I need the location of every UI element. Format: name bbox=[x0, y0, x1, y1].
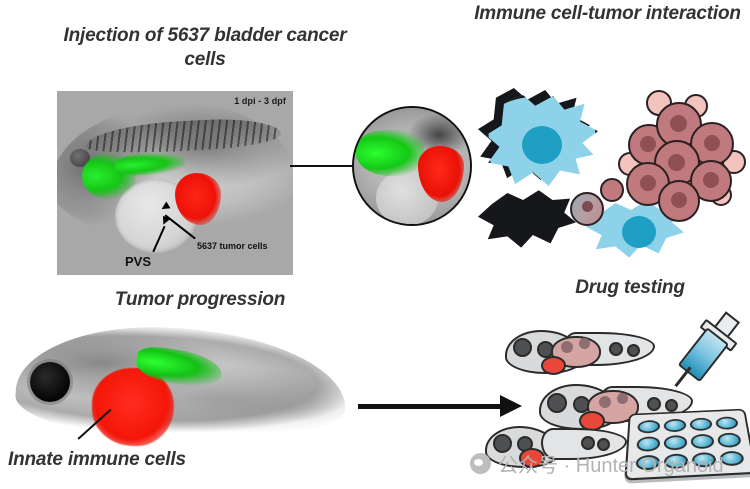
plate-well bbox=[636, 454, 660, 470]
tumor-cell-nucleus bbox=[640, 175, 656, 191]
larva-posterior-spot bbox=[597, 438, 610, 451]
plate-well-grid bbox=[636, 416, 745, 470]
larva-posterior-spot bbox=[609, 342, 623, 356]
timestamp-label: 1 dpi - 3 dpf bbox=[234, 96, 286, 106]
drug-testing-illustration bbox=[495, 318, 750, 484]
larva-tumor-spot bbox=[561, 341, 573, 353]
magnified-inset-image bbox=[352, 106, 472, 226]
panel-title-drug-testing: Drug testing bbox=[540, 276, 720, 300]
plate-well bbox=[719, 450, 745, 466]
tumor-cell-nucleus bbox=[668, 154, 685, 171]
panel-title-interaction: Immune cell-tumor interaction bbox=[470, 2, 745, 26]
tumor-cell-nucleus bbox=[670, 115, 687, 132]
tumor-cell-nucleus bbox=[640, 136, 656, 152]
tumor-cell-small bbox=[600, 178, 624, 202]
zebrafish-eye-large bbox=[30, 362, 70, 402]
plate-well bbox=[717, 433, 742, 448]
larva-eye bbox=[513, 338, 532, 357]
cartoon-larva bbox=[485, 422, 625, 472]
tumor-cell-nucleus bbox=[704, 135, 720, 151]
figure-canvas: Injection of 5637 bladder cancer cells I… bbox=[0, 0, 750, 489]
cartoon-larva bbox=[505, 326, 655, 378]
plate-well bbox=[692, 452, 717, 468]
macrophage-2-outline bbox=[478, 186, 576, 256]
microscopy-image-injection: 1 dpi - 3 dpf 5637 tumor cells PVS bbox=[57, 91, 293, 275]
larva-tumor-spot bbox=[579, 338, 590, 349]
larva-eye bbox=[493, 434, 512, 453]
tumor-cell bbox=[658, 180, 700, 222]
multiwell-plate bbox=[624, 409, 750, 481]
inset-green-fluorescence bbox=[356, 130, 424, 176]
connector-line-to-inset bbox=[290, 165, 352, 167]
plate-well bbox=[664, 435, 687, 450]
larva-tumor-spot bbox=[617, 393, 628, 404]
plate-well bbox=[664, 419, 687, 433]
larva-posterior-spot bbox=[647, 397, 661, 411]
larva-posterior-spot bbox=[627, 344, 640, 357]
macrophage-1-nucleus bbox=[522, 126, 562, 164]
larva-eye bbox=[547, 393, 567, 413]
larva-red-tumor bbox=[541, 356, 566, 375]
workflow-arrow bbox=[358, 404, 504, 409]
plate-well bbox=[691, 434, 715, 449]
plate-well bbox=[637, 420, 660, 434]
panel-title-injection: Injection of 5637 bladder cancer cells bbox=[50, 24, 360, 73]
tumor-cell-nucleus bbox=[671, 192, 687, 208]
plate-well bbox=[664, 453, 688, 469]
plate-well bbox=[636, 436, 660, 451]
annotation-tumor-cells: 5637 tumor cells bbox=[197, 241, 268, 251]
immune-tumor-interaction-illustration bbox=[478, 88, 750, 270]
plate-well bbox=[690, 417, 713, 431]
phagocytosed-cell-nucleus bbox=[582, 201, 593, 212]
microscopy-image-tumor-progression bbox=[8, 318, 358, 458]
tumor-cell-nucleus bbox=[703, 172, 719, 188]
macrophage-2-nucleus bbox=[622, 216, 656, 248]
annotation-pvs: PVS bbox=[125, 254, 151, 269]
plate-well bbox=[715, 416, 739, 430]
panel-title-tumor-progression: Tumor progression bbox=[55, 288, 345, 312]
larva-posterior-spot bbox=[665, 399, 678, 412]
larva-tumor-spot bbox=[599, 396, 611, 408]
larva-red-tumor bbox=[519, 448, 545, 468]
larva-posterior-spot bbox=[581, 436, 595, 450]
